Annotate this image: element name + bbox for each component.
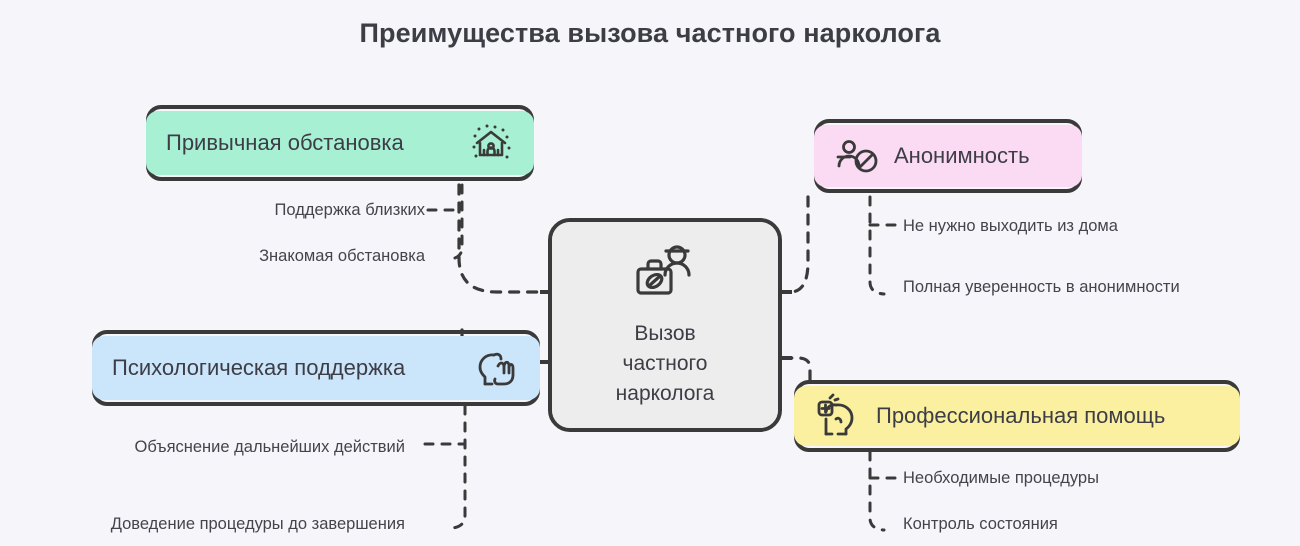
branch-node-anon-label: Анонимность	[894, 143, 1030, 169]
connector-anon-to-center	[782, 197, 808, 292]
head-with-medical-cross-icon	[814, 393, 862, 439]
sub-item-anon-1: Полная уверенность в анонимности	[903, 278, 1180, 297]
sub-item-psy-1: Доведение процедуры до завершения	[111, 515, 405, 534]
connector-prof-to-center	[782, 358, 810, 380]
sub-item-home-1: Знакомая обстановка	[259, 247, 425, 266]
sub-item-prof-0: Необходимые процедуры	[903, 469, 1099, 488]
branch-node-psy-label: Психологическая поддержка	[112, 355, 405, 381]
sub-item-psy-0: Объяснение дальнейших действий	[135, 438, 405, 457]
sub-item-anon-0: Не нужно выходить из дома	[903, 217, 1118, 236]
connector-anon-children	[870, 197, 884, 294]
branch-node-prof[interactable]: Профессиональная помощь	[794, 380, 1240, 452]
center-label-line-2: частного	[616, 349, 715, 379]
connector-home-to-center	[459, 185, 540, 292]
sub-item-prof-1: Контроль состояния	[903, 515, 1058, 534]
center-node-label: Вызов частного нарколога	[616, 319, 715, 409]
connector-psy-children	[452, 406, 465, 528]
page-title: Преимущества вызова частного нарколога	[0, 18, 1300, 49]
branch-node-anon[interactable]: Анонимность	[814, 119, 1082, 193]
center-node[interactable]: Вызов частного нарколога	[548, 218, 782, 432]
branch-node-home[interactable]: Привычная обстановка	[146, 105, 534, 181]
sub-item-home-0: Поддержка близких	[275, 201, 425, 220]
connector-prof-children	[870, 452, 884, 530]
house-with-person-icon	[468, 120, 514, 166]
connector-home-children	[450, 185, 462, 259]
mindmap-canvas: Преимущества вызова частного нарколога	[0, 0, 1300, 546]
branch-node-prof-label: Профессиональная помощь	[876, 403, 1165, 429]
center-label-line-3: нарколога	[616, 379, 715, 409]
center-label-line-1: Вызов	[616, 319, 715, 349]
person-prohibited-icon	[834, 135, 882, 177]
head-with-caring-hand-icon	[474, 346, 520, 390]
branch-node-home-label: Привычная обстановка	[166, 130, 404, 156]
doctor-with-medical-bag-icon	[629, 241, 701, 303]
branch-node-psy[interactable]: Психологическая поддержка	[92, 330, 540, 406]
